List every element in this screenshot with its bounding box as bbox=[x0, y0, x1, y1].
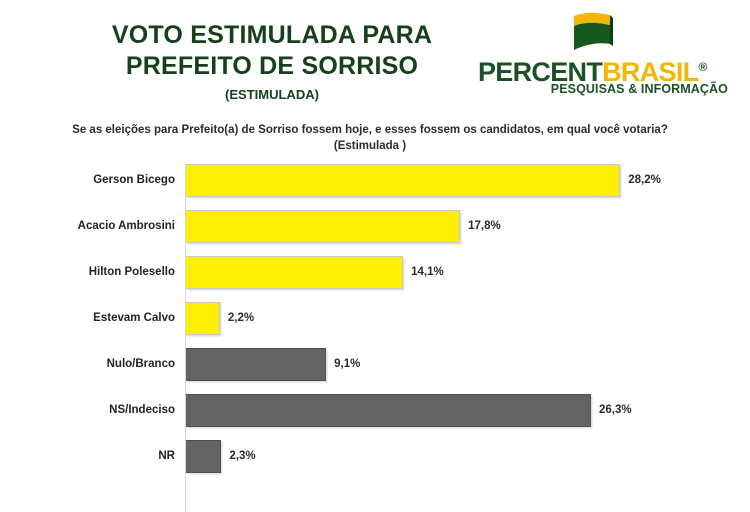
bar-row: Acacio Ambrosini17,8% bbox=[0, 210, 750, 256]
bar[interactable] bbox=[186, 164, 620, 197]
bar-row: Gerson Bicego28,2% bbox=[0, 164, 750, 210]
bar-category-label: Estevam Calvo bbox=[0, 302, 175, 335]
poll-result-chart-page: VOTO ESTIMULADA PARA PREFEITO DE SORRISO… bbox=[0, 0, 750, 512]
bar-wrapper: 9,1% bbox=[186, 348, 416, 381]
shield-emblem-icon bbox=[570, 12, 614, 54]
bar-chart: Gerson Bicego28,2%Acacio Ambrosini17,8%H… bbox=[0, 164, 750, 512]
logo-tagline: PESQUISAS & INFORMAÇÃO bbox=[478, 82, 728, 96]
bar-category-label: Gerson Bicego bbox=[0, 164, 175, 197]
bar-category-label: NR bbox=[0, 440, 175, 473]
bar[interactable] bbox=[186, 348, 326, 381]
bar[interactable] bbox=[186, 210, 460, 243]
title-subtitle: (ESTIMULADA) bbox=[62, 85, 482, 105]
bar-value-label: 28,2% bbox=[628, 164, 661, 197]
bar-category-label: Acacio Ambrosini bbox=[0, 210, 175, 243]
bar-wrapper: 2,3% bbox=[186, 440, 311, 473]
registered-trademark-icon: ® bbox=[698, 60, 707, 74]
bar-category-label: NS/Indeciso bbox=[0, 394, 175, 427]
bar-row: NR2,3% bbox=[0, 440, 750, 486]
bar-row: NS/Indeciso26,3% bbox=[0, 394, 750, 440]
bar-value-label: 9,1% bbox=[334, 348, 360, 381]
title-line-2: PREFEITO DE SORRISO bbox=[62, 51, 482, 82]
bar-wrapper: 17,8% bbox=[186, 210, 550, 243]
logo-wordmark: PERCENTBRASIL® bbox=[478, 54, 728, 80]
title-line-1: VOTO ESTIMULADA PARA bbox=[62, 20, 482, 51]
bar-value-label: 2,3% bbox=[229, 440, 255, 473]
bar-category-label: Nulo/Branco bbox=[0, 348, 175, 381]
bar-value-label: 17,8% bbox=[468, 210, 501, 243]
bar-value-label: 2,2% bbox=[228, 302, 254, 335]
bar[interactable] bbox=[186, 302, 220, 335]
bar[interactable] bbox=[186, 440, 221, 473]
bar-wrapper: 26,3% bbox=[186, 394, 681, 427]
bar-row: Estevam Calvo2,2% bbox=[0, 302, 750, 348]
bar-row: Nulo/Branco9,1% bbox=[0, 348, 750, 394]
chart-header: VOTO ESTIMULADA PARA PREFEITO DE SORRISO… bbox=[0, 0, 750, 110]
bar-wrapper: 28,2% bbox=[186, 164, 710, 197]
bar[interactable] bbox=[186, 256, 403, 289]
survey-question: Se as eleições para Prefeito(a) de Sorri… bbox=[70, 122, 670, 154]
page-title: VOTO ESTIMULADA PARA PREFEITO DE SORRISO… bbox=[62, 20, 482, 105]
bar-wrapper: 2,2% bbox=[186, 302, 310, 335]
bar-value-label: 14,1% bbox=[411, 256, 444, 289]
bar-wrapper: 14,1% bbox=[186, 256, 493, 289]
bar-row: Hilton Polesello14,1% bbox=[0, 256, 750, 302]
bar-value-label: 26,3% bbox=[599, 394, 632, 427]
bar-category-label: Hilton Polesello bbox=[0, 256, 175, 289]
bar[interactable] bbox=[186, 394, 591, 427]
percentbrasil-logo: PERCENTBRASIL® PESQUISAS & INFORMAÇÃO bbox=[478, 12, 728, 102]
